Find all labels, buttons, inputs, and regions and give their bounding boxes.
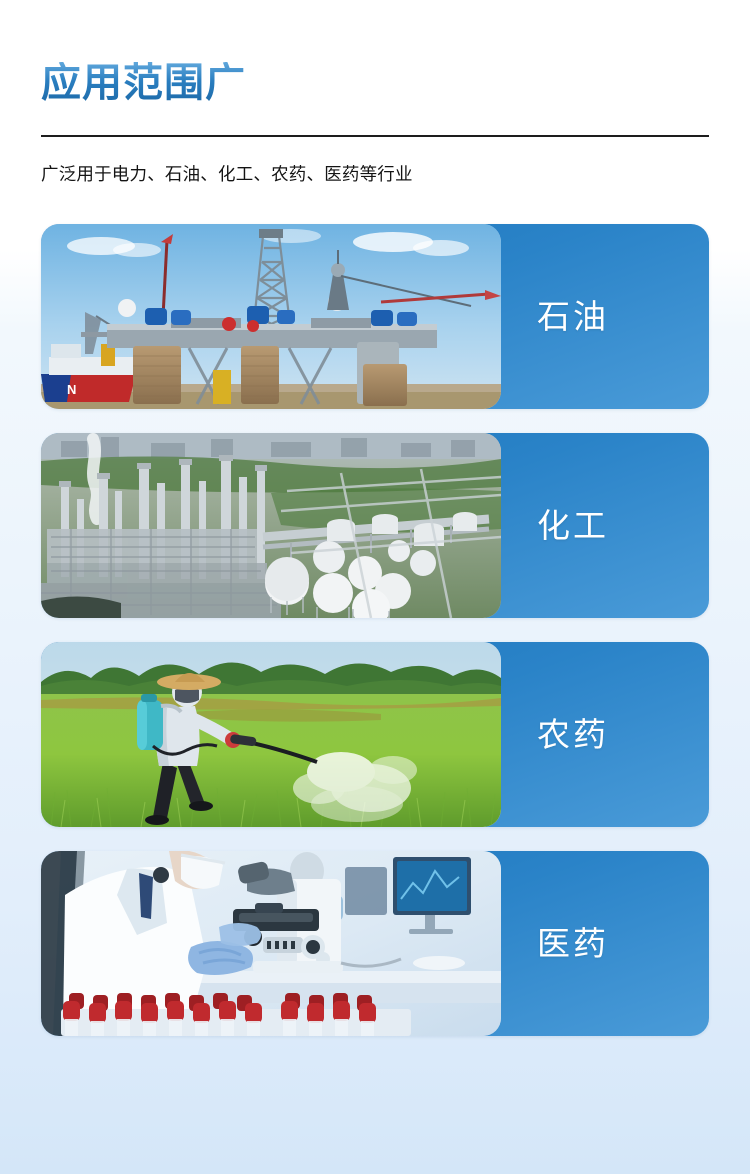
industry-card-pesticide[interactable]: 农药 [41, 642, 709, 827]
oil-rig-scene-icon: N [41, 224, 501, 409]
industry-card-label: 化工 [537, 509, 609, 542]
industry-card-label-pane: 医药 [501, 851, 709, 1036]
page-title: 应用范围广 [41, 62, 246, 104]
laboratory-microscope-scene-icon [41, 851, 501, 1036]
industry-card-label: 农药 [537, 718, 609, 751]
industry-card-oil[interactable]: N [41, 224, 709, 409]
industry-card-photo [41, 433, 501, 618]
industry-card-label: 医药 [537, 927, 609, 960]
petrochemical-plant-scene-icon [41, 433, 501, 618]
page-header: 应用范围广 广泛用于电力、石油、化工、农药、医药等行业 [0, 0, 750, 187]
industry-card-chemical[interactable]: 化工 [41, 433, 709, 618]
pesticide-spraying-scene-icon [41, 642, 501, 827]
industry-card-photo [41, 642, 501, 827]
industry-card-label-pane: 农药 [501, 642, 709, 827]
industry-card-label: 石油 [537, 300, 609, 333]
bottom-spacer [0, 1036, 750, 1106]
industry-card-photo [41, 851, 501, 1036]
svg-text:N: N [67, 382, 76, 397]
industry-card-label-pane: 石油 [501, 224, 709, 409]
title-divider [41, 135, 709, 137]
industry-card-label-pane: 化工 [501, 433, 709, 618]
page-subtitle: 广泛用于电力、石油、化工、农药、医药等行业 [41, 162, 709, 187]
industry-card-list: N [0, 224, 750, 1036]
industry-card-pharma[interactable]: 医药 [41, 851, 709, 1036]
industry-card-photo: N [41, 224, 501, 409]
